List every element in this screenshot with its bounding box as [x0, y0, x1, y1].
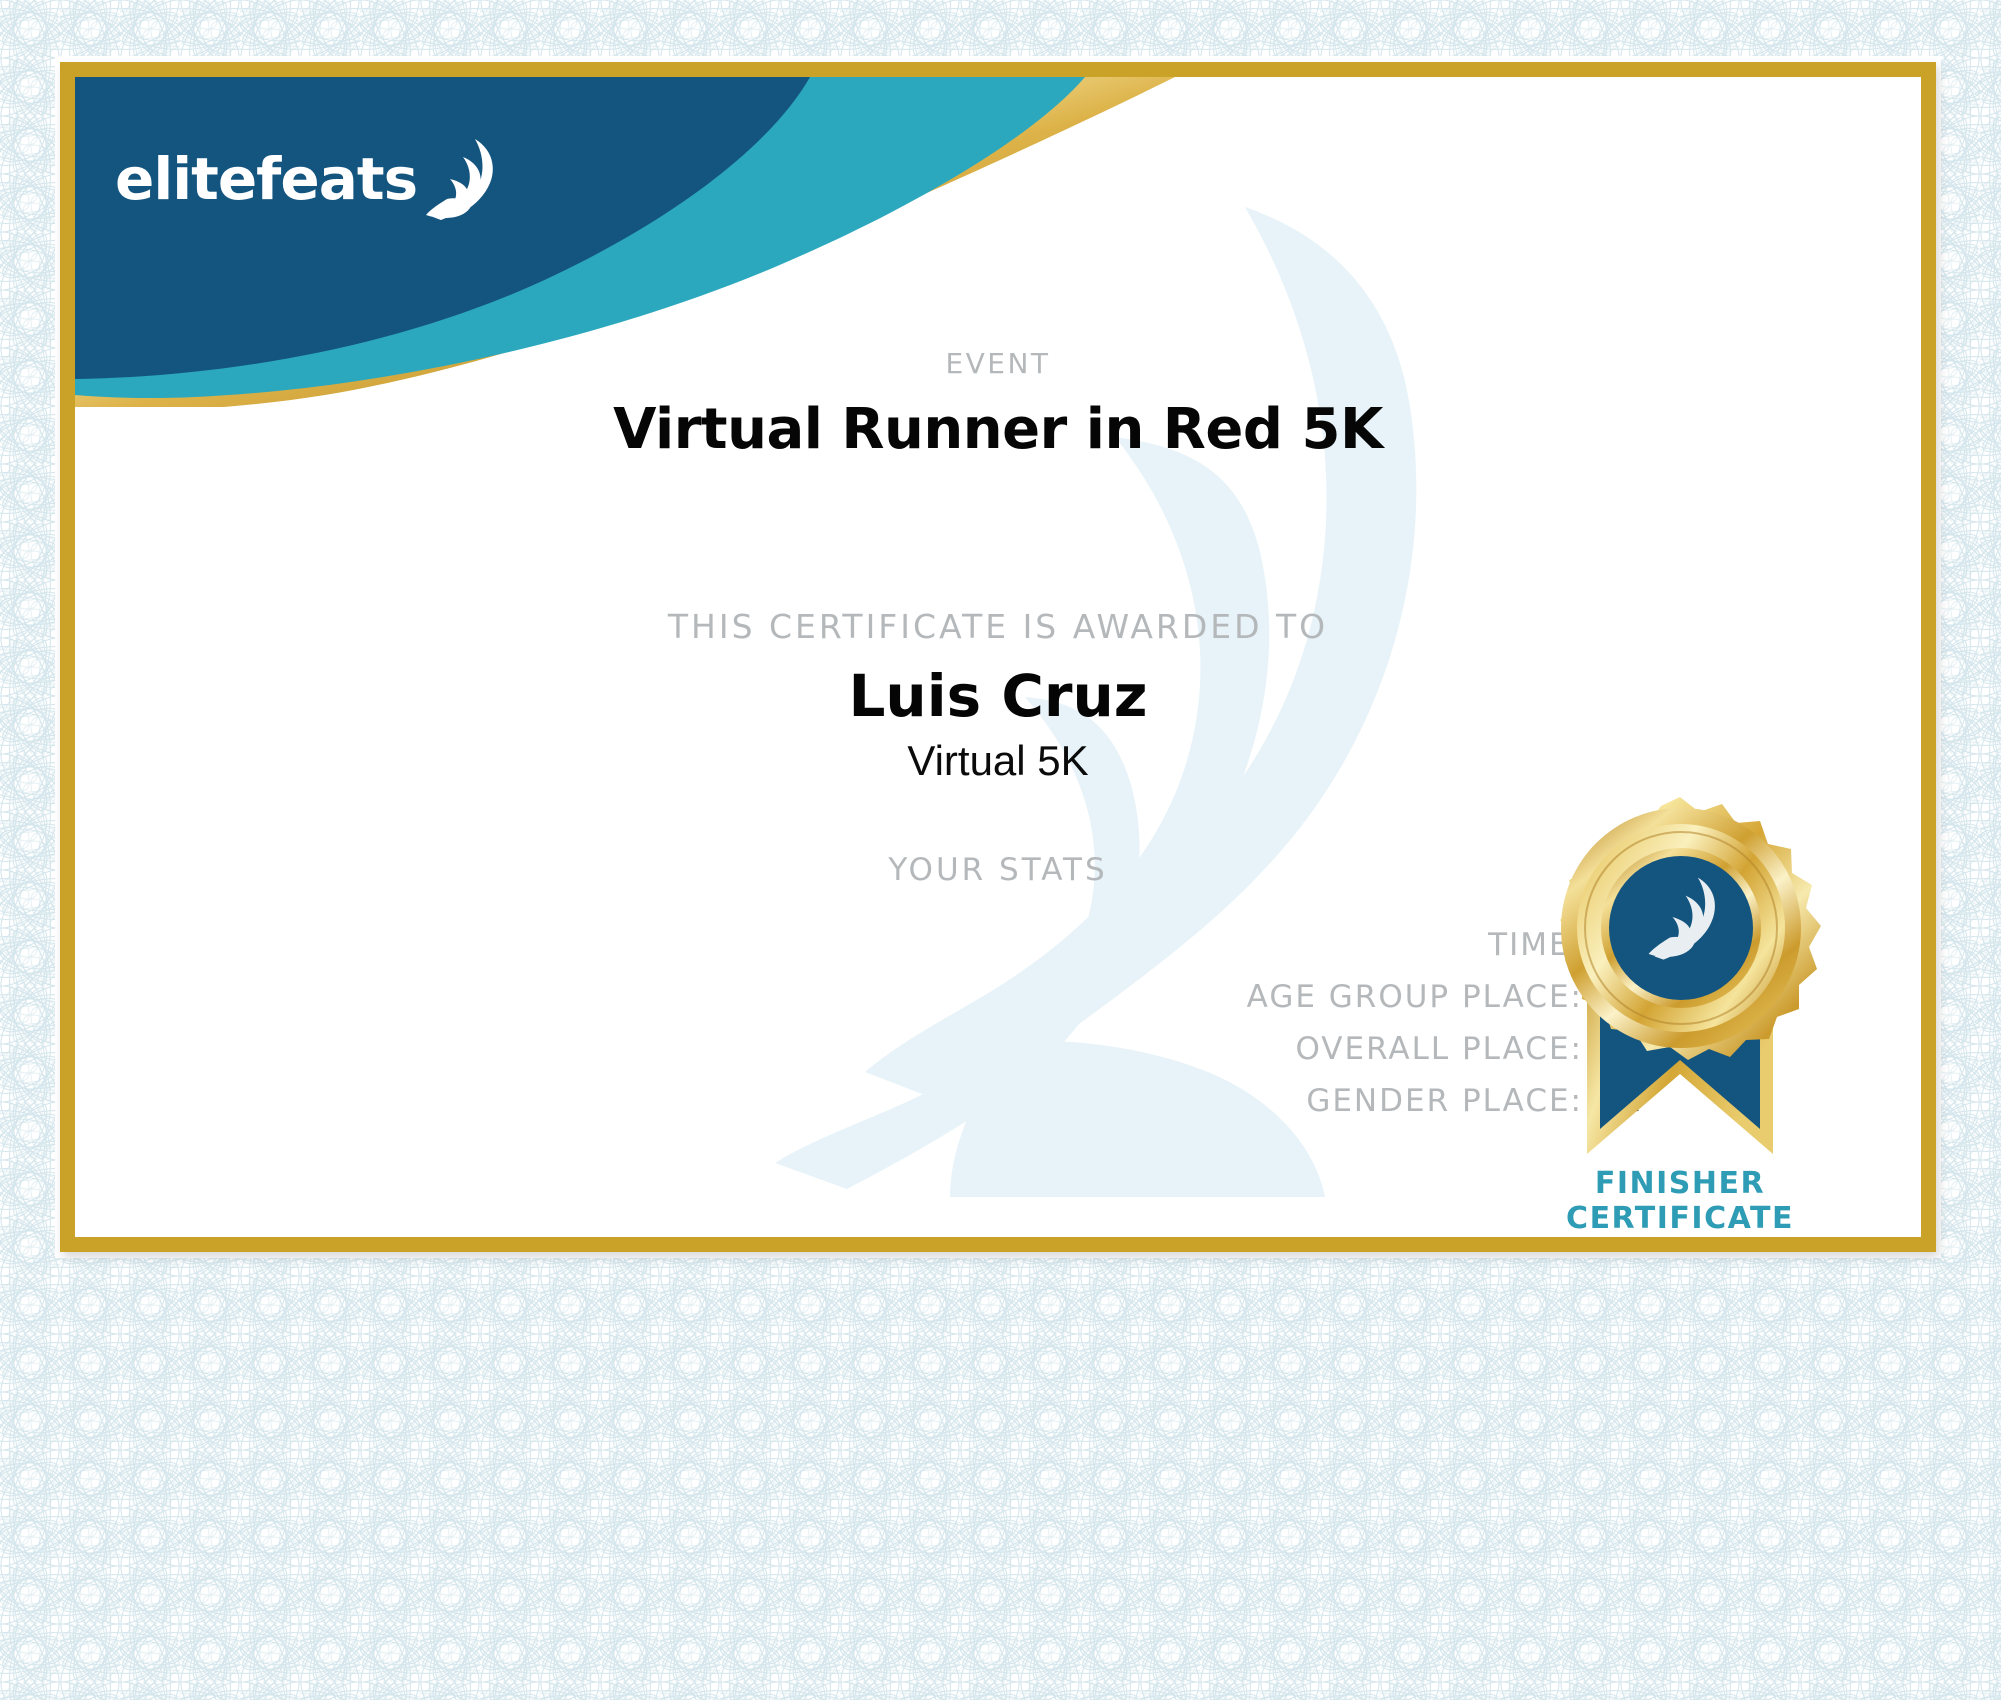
stat-row: OVERALL PLACE: Inc	[75, 1031, 1715, 1067]
recipient-division: Virtual 5K	[75, 737, 1921, 785]
certificate-frame: elitefeats EVENT Virtual Runner in Red 5…	[60, 62, 1936, 1252]
certificate-page: elitefeats EVENT Virtual Runner in Red 5…	[0, 0, 2001, 1700]
stat-row: GENDER PLACE: Inc	[75, 1083, 1715, 1119]
awarded-to-label: THIS CERTIFICATE IS AWARDED TO	[75, 607, 1921, 646]
seal-caption-line2: CERTIFICATE	[1490, 1202, 1870, 1237]
event-label: EVENT	[75, 347, 1921, 380]
seal-caption-line1: FINISHER	[1490, 1167, 1870, 1202]
event-name: Virtual Runner in Red 5K	[75, 397, 1921, 462]
stat-row: TIME: Inc	[75, 927, 1715, 963]
certificate-content: EVENT Virtual Runner in Red 5K THIS CERT…	[75, 77, 1921, 1237]
finisher-medal-seal: 2020	[1515, 792, 1845, 1192]
stats-list: TIME: Inc AGE GROUP PLACE: Inc OVERALL P…	[75, 927, 1715, 1135]
certificate-body: elitefeats EVENT Virtual Runner in Red 5…	[75, 77, 1921, 1237]
stat-row: AGE GROUP PLACE: Inc	[75, 979, 1715, 1015]
seal-caption: FINISHER CERTIFICATE	[1490, 1167, 1870, 1237]
recipient-name: Luis Cruz	[75, 662, 1921, 730]
